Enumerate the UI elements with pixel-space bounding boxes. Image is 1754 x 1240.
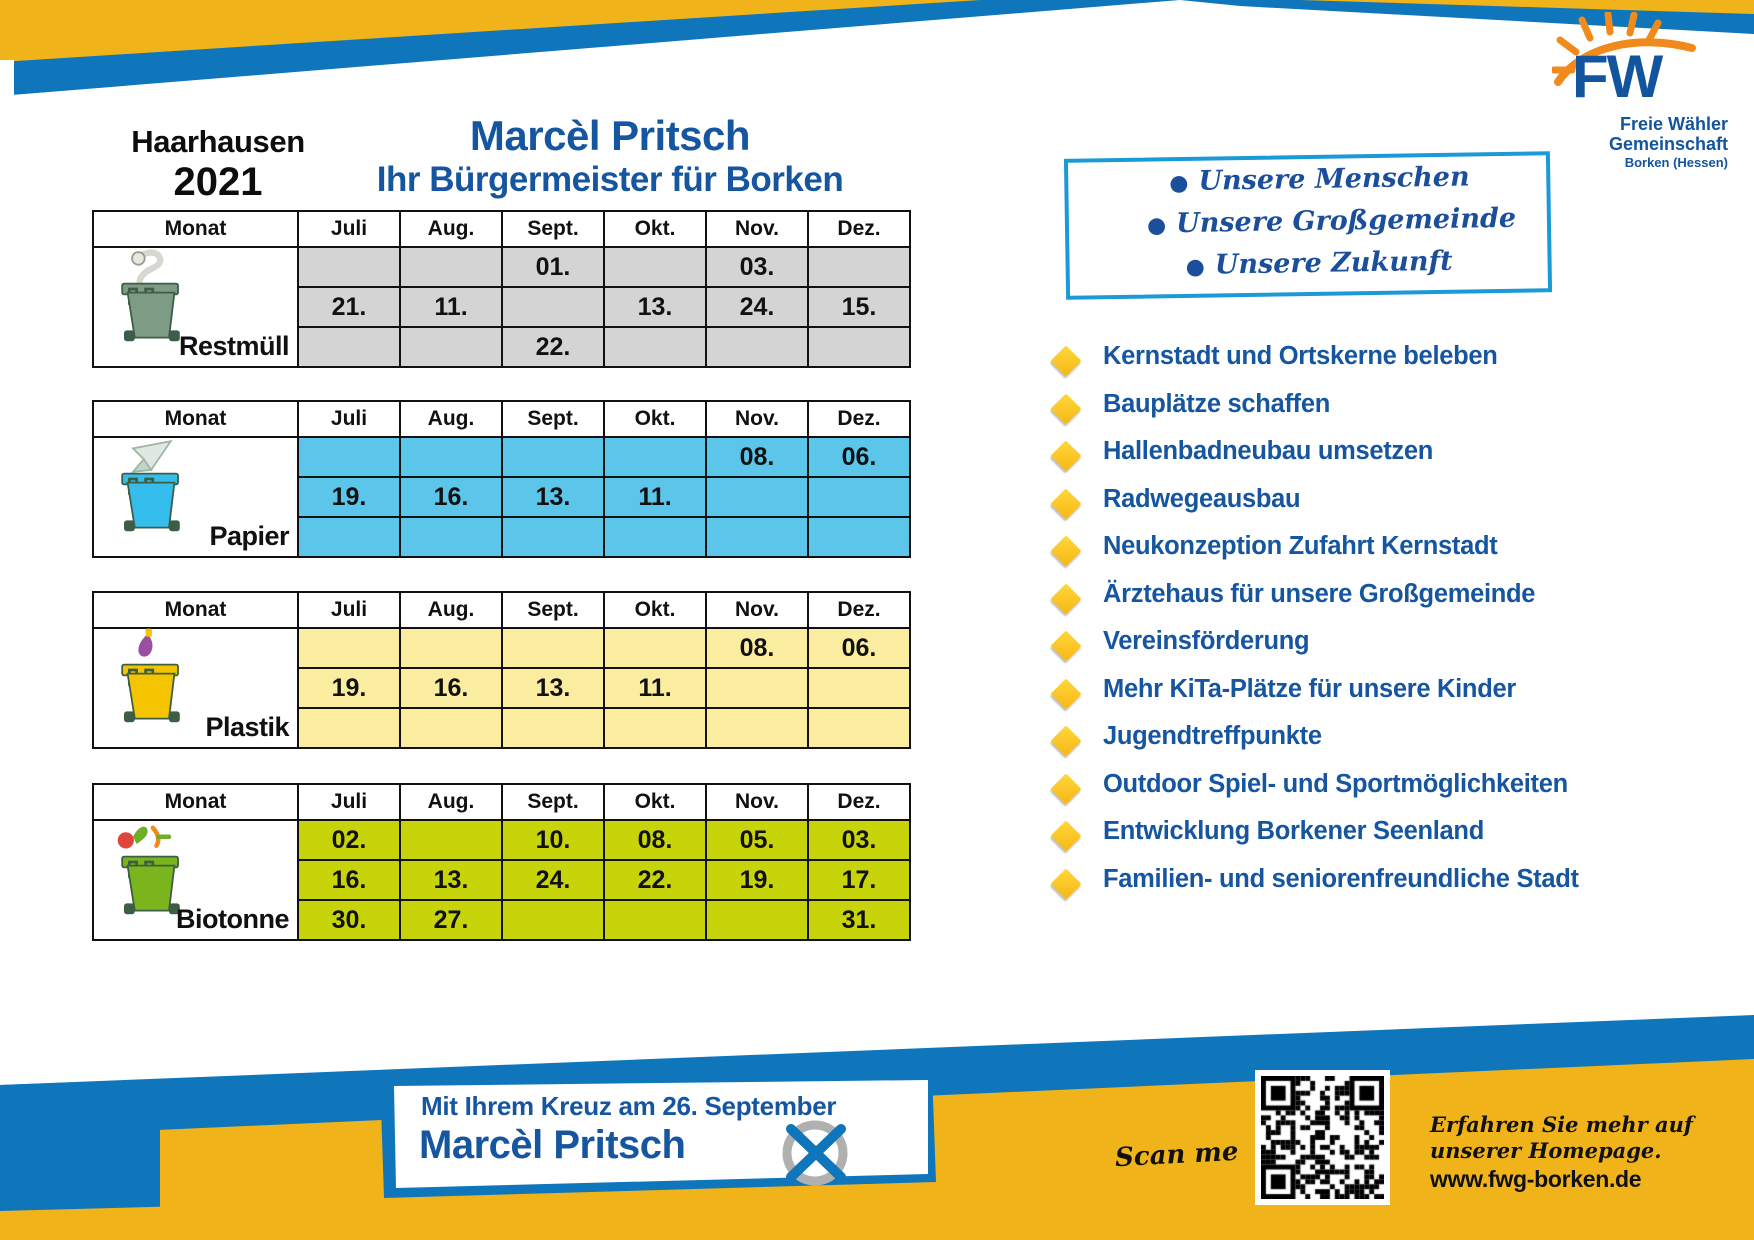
date-cell xyxy=(808,517,910,557)
date-cell: 06. xyxy=(808,628,910,668)
goal-label: Bauplätze schaffen xyxy=(1103,390,1330,419)
date-cell: 08. xyxy=(604,820,706,860)
table-header-month-5: Dez. xyxy=(808,401,910,437)
place-title: Haarhausen xyxy=(108,124,328,160)
decoration-left-edge xyxy=(0,60,30,1060)
date-cell xyxy=(808,668,910,708)
table-header-month-3: Okt. xyxy=(604,784,706,820)
date-cell xyxy=(400,437,502,477)
table-header-month-3: Okt. xyxy=(604,211,706,247)
diamond-bullet-icon xyxy=(1050,773,1081,804)
date-cell xyxy=(502,437,604,477)
green-bin-icon xyxy=(106,817,196,916)
date-cell xyxy=(706,477,808,517)
date-cell xyxy=(400,327,502,367)
date-cell xyxy=(604,517,706,557)
logo-abbrev: FW xyxy=(1572,42,1661,111)
date-cell: 02. xyxy=(298,820,400,860)
table-header-monat: Monat xyxy=(93,211,298,247)
table-header-month-0: Juli xyxy=(298,401,400,437)
diamond-bullet-icon xyxy=(1050,488,1081,519)
bin-cell-plastik: Plastik xyxy=(93,628,298,748)
slogan-item-1: ●Unsere Menschen xyxy=(1169,163,1470,195)
homepage-line-2: unserer Homepage. xyxy=(1430,1138,1730,1164)
scan-me-label: Scan me xyxy=(1114,1137,1239,1173)
waste-table-papier: MonatJuliAug.Sept.Okt.Nov.Dez. Papier 08… xyxy=(92,400,910,558)
goal-item-7: Mehr KiTa-Plätze für unsere Kinder xyxy=(1055,673,1705,721)
date-cell xyxy=(502,900,604,940)
goal-item-2: Hallenbadneubau umsetzen xyxy=(1055,435,1705,483)
date-cell: 05. xyxy=(706,820,808,860)
table-header-month-1: Aug. xyxy=(400,592,502,628)
date-cell xyxy=(298,517,400,557)
table-header-month-4: Nov. xyxy=(706,401,808,437)
table-header-month-2: Sept. xyxy=(502,211,604,247)
goal-label: Ärztehaus für unsere Großgemeinde xyxy=(1103,580,1535,609)
table-row: Papier 08.06. xyxy=(93,437,910,477)
date-cell xyxy=(808,327,910,367)
table-header-month-0: Juli xyxy=(298,592,400,628)
date-cell xyxy=(604,708,706,748)
table-header-month-4: Nov. xyxy=(706,211,808,247)
slogan-list: ●Unsere Menschen ●Unsere Großgemeinde ●U… xyxy=(1074,156,1546,293)
goal-item-11: Familien- und seniorenfreundliche Stadt xyxy=(1055,863,1705,911)
date-cell xyxy=(298,247,400,287)
date-cell: 08. xyxy=(706,628,808,668)
goal-item-8: Jugendtreffpunkte xyxy=(1055,720,1705,768)
waste-table-plastik: MonatJuliAug.Sept.Okt.Nov.Dez. Plastik 0… xyxy=(92,591,910,749)
yellow-bin-icon-wrap xyxy=(106,625,196,735)
date-cell xyxy=(706,900,808,940)
bin-cell-restmuell: Restmüll xyxy=(93,247,298,367)
goal-label: Hallenbadneubau umsetzen xyxy=(1103,437,1433,466)
bin-label: Restmüll xyxy=(179,331,289,362)
date-cell xyxy=(502,517,604,557)
date-cell xyxy=(400,517,502,557)
blue-bin-icon-wrap xyxy=(106,434,196,544)
date-cell xyxy=(502,287,604,327)
homepage-line-1: Erfahren Sie mehr auf xyxy=(1430,1112,1730,1138)
waste-table-restmuell: MonatJuliAug.Sept.Okt.Nov.Dez. Restmüll … xyxy=(92,210,910,368)
date-cell xyxy=(400,820,502,860)
goal-label: Vereinsförderung xyxy=(1103,627,1309,656)
date-cell: 11. xyxy=(604,477,706,517)
table-header-month-5: Dez. xyxy=(808,592,910,628)
banner-line-2: Marcèl Pritsch xyxy=(419,1123,685,1168)
goal-item-5: Ärztehaus für unsere Großgemeinde xyxy=(1055,578,1705,626)
homepage-info: Erfahren Sie mehr auf unserer Homepage. … xyxy=(1430,1112,1730,1193)
table-header-month-4: Nov. xyxy=(706,592,808,628)
grey-bin-icon xyxy=(106,244,196,343)
date-cell xyxy=(400,247,502,287)
date-cell: 16. xyxy=(298,860,400,900)
blue-bin-icon xyxy=(106,434,196,533)
date-cell: 19. xyxy=(706,860,808,900)
date-cell xyxy=(604,900,706,940)
bin-label: Plastik xyxy=(205,712,289,743)
goals-list: Kernstadt und Ortskerne belebenBauplätze… xyxy=(1055,340,1705,910)
date-cell xyxy=(400,708,502,748)
date-cell: 19. xyxy=(298,668,400,708)
diamond-bullet-icon xyxy=(1050,820,1081,851)
waste-table-biotonne: MonatJuliAug.Sept.Okt.Nov.Dez. Biotonne … xyxy=(92,783,910,941)
date-cell: 11. xyxy=(604,668,706,708)
bin-cell-biotonne: Biotonne xyxy=(93,820,298,940)
table-header-monat: Monat xyxy=(93,592,298,628)
goal-label: Radwegeausbau xyxy=(1103,485,1300,514)
table-header-monat: Monat xyxy=(93,784,298,820)
date-cell: 27. xyxy=(400,900,502,940)
vote-banner: Mit Ihrem Kreuz am 26. September Marcèl … xyxy=(395,1085,915,1190)
table-header-monat: Monat xyxy=(93,401,298,437)
date-cell: 31. xyxy=(808,900,910,940)
diamond-bullet-icon xyxy=(1050,440,1081,471)
diamond-bullet-icon xyxy=(1050,535,1081,566)
qr-code-icon[interactable] xyxy=(1255,1070,1390,1205)
table-header-month-4: Nov. xyxy=(706,784,808,820)
diamond-bullet-icon xyxy=(1050,345,1081,376)
date-cell: 22. xyxy=(604,860,706,900)
date-cell: 30. xyxy=(298,900,400,940)
date-cell xyxy=(604,247,706,287)
date-cell: 16. xyxy=(400,477,502,517)
fw-logo: FW Freie Wähler Gemeinschaft Borken (Hes… xyxy=(1530,10,1735,175)
table-header-month-2: Sept. xyxy=(502,592,604,628)
goal-item-6: Vereinsförderung xyxy=(1055,625,1705,673)
date-cell: 06. xyxy=(808,437,910,477)
goal-label: Entwicklung Borkener Seenland xyxy=(1103,817,1484,846)
goal-item-4: Neukonzeption Zufahrt Kernstadt xyxy=(1055,530,1705,578)
date-cell: 08. xyxy=(706,437,808,477)
table-header-month-1: Aug. xyxy=(400,401,502,437)
table-header-month-3: Okt. xyxy=(604,592,706,628)
table-row: Biotonne 02.10.08.05.03. xyxy=(93,820,910,860)
table-row: Plastik 08.06. xyxy=(93,628,910,668)
diamond-bullet-icon xyxy=(1050,393,1081,424)
flyer-canvas: FW Freie Wähler Gemeinschaft Borken (Hes… xyxy=(0,0,1754,1240)
table-header-month-2: Sept. xyxy=(502,784,604,820)
date-cell xyxy=(808,477,910,517)
table-header-month-0: Juli xyxy=(298,211,400,247)
bin-label: Papier xyxy=(209,521,289,552)
date-cell xyxy=(808,708,910,748)
slogan-item-3: ●Unsere Zukunft xyxy=(1185,248,1452,279)
date-cell xyxy=(298,437,400,477)
date-cell: 24. xyxy=(706,287,808,327)
table-header-month-5: Dez. xyxy=(808,784,910,820)
table-header-month-0: Juli xyxy=(298,784,400,820)
date-cell xyxy=(298,327,400,367)
date-cell: 13. xyxy=(502,668,604,708)
bullet-dot-icon: ● xyxy=(1185,253,1205,279)
date-cell: 03. xyxy=(808,820,910,860)
date-cell: 11. xyxy=(400,287,502,327)
goal-item-3: Radwegeausbau xyxy=(1055,483,1705,531)
logo-line-2: Gemeinschaft xyxy=(1548,134,1728,154)
date-cell: 13. xyxy=(400,860,502,900)
date-cell: 13. xyxy=(502,477,604,517)
diamond-bullet-icon xyxy=(1050,678,1081,709)
goal-label: Jugendtreffpunkte xyxy=(1103,722,1322,751)
website-url[interactable]: www.fwg-borken.de xyxy=(1430,1166,1730,1193)
yellow-bin-icon xyxy=(106,625,196,724)
date-cell xyxy=(400,628,502,668)
diamond-bullet-icon xyxy=(1050,630,1081,661)
date-cell: 13. xyxy=(604,287,706,327)
year-title: 2021 xyxy=(108,160,328,205)
date-cell xyxy=(604,628,706,668)
date-cell: 03. xyxy=(706,247,808,287)
table-header-month-1: Aug. xyxy=(400,784,502,820)
date-cell xyxy=(502,628,604,668)
bin-cell-papier: Papier xyxy=(93,437,298,557)
bin-label: Biotonne xyxy=(176,904,289,935)
goal-label: Mehr KiTa-Plätze für unsere Kinder xyxy=(1103,675,1516,704)
bullet-dot-icon: ● xyxy=(1169,169,1189,195)
decoration-bottom-left-white xyxy=(0,1010,460,1240)
table-header-month-2: Sept. xyxy=(502,401,604,437)
date-cell xyxy=(604,437,706,477)
date-cell: 10. xyxy=(502,820,604,860)
date-cell xyxy=(502,708,604,748)
logo-line-3: Borken (Hessen) xyxy=(1548,156,1728,171)
goal-item-0: Kernstadt und Ortskerne beleben xyxy=(1055,340,1705,388)
slogan-item-2: ●Unsere Großgemeinde xyxy=(1147,205,1517,238)
table-header-month-1: Aug. xyxy=(400,211,502,247)
date-cell xyxy=(298,708,400,748)
table-header-month-3: Okt. xyxy=(604,401,706,437)
goal-item-9: Outdoor Spiel- und Sportmöglichkeiten xyxy=(1055,768,1705,816)
date-cell xyxy=(808,247,910,287)
goal-label: Outdoor Spiel- und Sportmöglichkeiten xyxy=(1103,770,1568,799)
date-cell: 24. xyxy=(502,860,604,900)
date-cell: 16. xyxy=(400,668,502,708)
date-cell: 22. xyxy=(502,327,604,367)
table-header-month-5: Dez. xyxy=(808,211,910,247)
date-cell: 21. xyxy=(298,287,400,327)
date-cell xyxy=(298,628,400,668)
date-cell xyxy=(706,668,808,708)
date-cell: 15. xyxy=(808,287,910,327)
goal-label: Neukonzeption Zufahrt Kernstadt xyxy=(1103,532,1497,561)
diamond-bullet-icon xyxy=(1050,725,1081,756)
candidate-subtitle: Ihr Bürgermeister für Borken xyxy=(300,160,920,200)
date-cell xyxy=(706,708,808,748)
table-row: Restmüll 01.03. xyxy=(93,247,910,287)
goal-item-1: Bauplätze schaffen xyxy=(1055,388,1705,436)
logo-line-1: Freie Wähler xyxy=(1548,114,1728,134)
goal-label: Familien- und seniorenfreundliche Stadt xyxy=(1103,865,1579,894)
diamond-bullet-icon xyxy=(1050,583,1081,614)
bullet-dot-icon: ● xyxy=(1147,212,1167,238)
candidate-name: Marcèl Pritsch xyxy=(330,112,890,160)
date-cell xyxy=(706,327,808,367)
date-cell xyxy=(706,517,808,557)
date-cell: 19. xyxy=(298,477,400,517)
date-cell: 17. xyxy=(808,860,910,900)
diamond-bullet-icon xyxy=(1050,868,1081,899)
banner-line-1: Mit Ihrem Kreuz am 26. September xyxy=(421,1091,836,1122)
date-cell xyxy=(604,327,706,367)
date-cell: 01. xyxy=(502,247,604,287)
goal-item-10: Entwicklung Borkener Seenland xyxy=(1055,815,1705,863)
goal-label: Kernstadt und Ortskerne beleben xyxy=(1103,342,1498,371)
cross-vote-icon xyxy=(775,1119,855,1187)
